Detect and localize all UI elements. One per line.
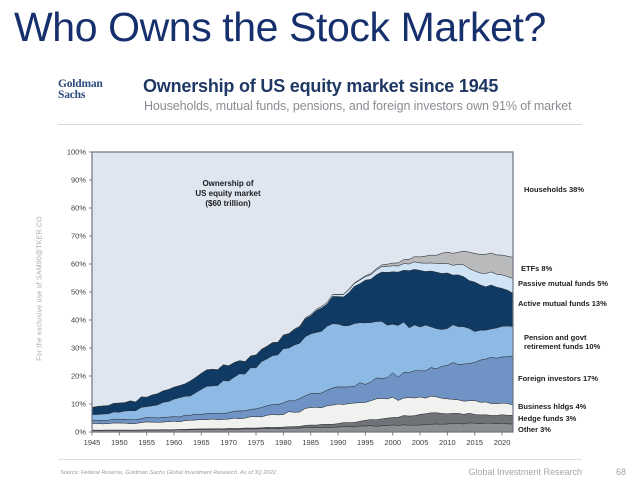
chart-subtitle: Households, mutual funds, pensions, and … [144, 99, 571, 113]
series-callout-label: Foreign investors 17% [518, 374, 598, 383]
y-tick-label: 20% [71, 372, 86, 381]
x-tick-label: 1965 [193, 438, 210, 447]
y-tick-label: 100% [67, 148, 87, 157]
x-tick-label: 2000 [384, 438, 401, 447]
x-tick-label: 1980 [275, 438, 292, 447]
series-callout-label: Active mutual funds 13% [518, 299, 607, 308]
y-tick-label: 80% [71, 204, 86, 213]
stacked-area-chart: 0%10%20%30%40%50%60%70%80%90%100%1945195… [0, 140, 640, 450]
chart-annotation-line: ($60 trillion) [205, 199, 251, 208]
footer-label: Global Investment Research [468, 467, 582, 477]
area-bands [92, 152, 513, 432]
y-tick-label: 90% [71, 176, 86, 185]
x-tick-label: 2005 [412, 438, 429, 447]
x-tick-label: 2020 [494, 438, 511, 447]
goldman-sachs-logo: Goldman Sachs [58, 79, 136, 101]
series-callout-label: Hedge funds 3% [518, 414, 577, 423]
footer-divider [58, 459, 582, 460]
series-callout-label: Business hldgs 4% [518, 402, 587, 411]
x-tick-label: 1970 [220, 438, 237, 447]
logo-line-sachs: Sachs [58, 90, 136, 101]
x-tick-label: 2010 [439, 438, 456, 447]
series-callout-label: ETFs 8% [521, 264, 553, 273]
x-tick-label: 1985 [302, 438, 319, 447]
x-tick-label: 1995 [357, 438, 374, 447]
slide-root: Who Owns the Stock Market? Goldman Sachs… [0, 0, 640, 487]
series-callout-label: Other 3% [518, 425, 551, 434]
x-tick-label: 1960 [166, 438, 183, 447]
page-number: 68 [616, 467, 626, 477]
x-tick-label: 2015 [466, 438, 483, 447]
x-tick-label: 1975 [248, 438, 265, 447]
series-callout-label: Passive mutual funds 5% [518, 279, 608, 288]
x-tick-label: 1945 [84, 438, 101, 447]
chart-annotation-line: US equity market [195, 189, 261, 198]
series-callout-label: retirement funds 10% [524, 342, 601, 351]
x-tick-label: 1955 [138, 438, 155, 447]
series-callout-label: Households 38% [524, 185, 584, 194]
header-divider [58, 124, 582, 125]
y-tick-label: 70% [71, 232, 86, 241]
chart-svg: 0%10%20%30%40%50%60%70%80%90%100%1945195… [0, 140, 640, 450]
y-tick-label: 60% [71, 260, 86, 269]
page-title: Who Owns the Stock Market? [14, 4, 546, 50]
x-tick-label: 1990 [330, 438, 347, 447]
chart-annotation-line: Ownership of [202, 179, 253, 188]
series-callout-label: Pension and govt [524, 333, 587, 342]
x-tick-label: 1950 [111, 438, 128, 447]
y-tick-label: 0% [75, 428, 86, 437]
chart-title: Ownership of US equity market since 1945 [143, 76, 498, 97]
y-tick-label: 50% [71, 288, 86, 297]
y-tick-label: 40% [71, 316, 86, 325]
y-tick-label: 10% [71, 400, 86, 409]
y-tick-label: 30% [71, 344, 86, 353]
source-note: Source: Federal Reserve, Goldman Sachs G… [60, 470, 277, 476]
